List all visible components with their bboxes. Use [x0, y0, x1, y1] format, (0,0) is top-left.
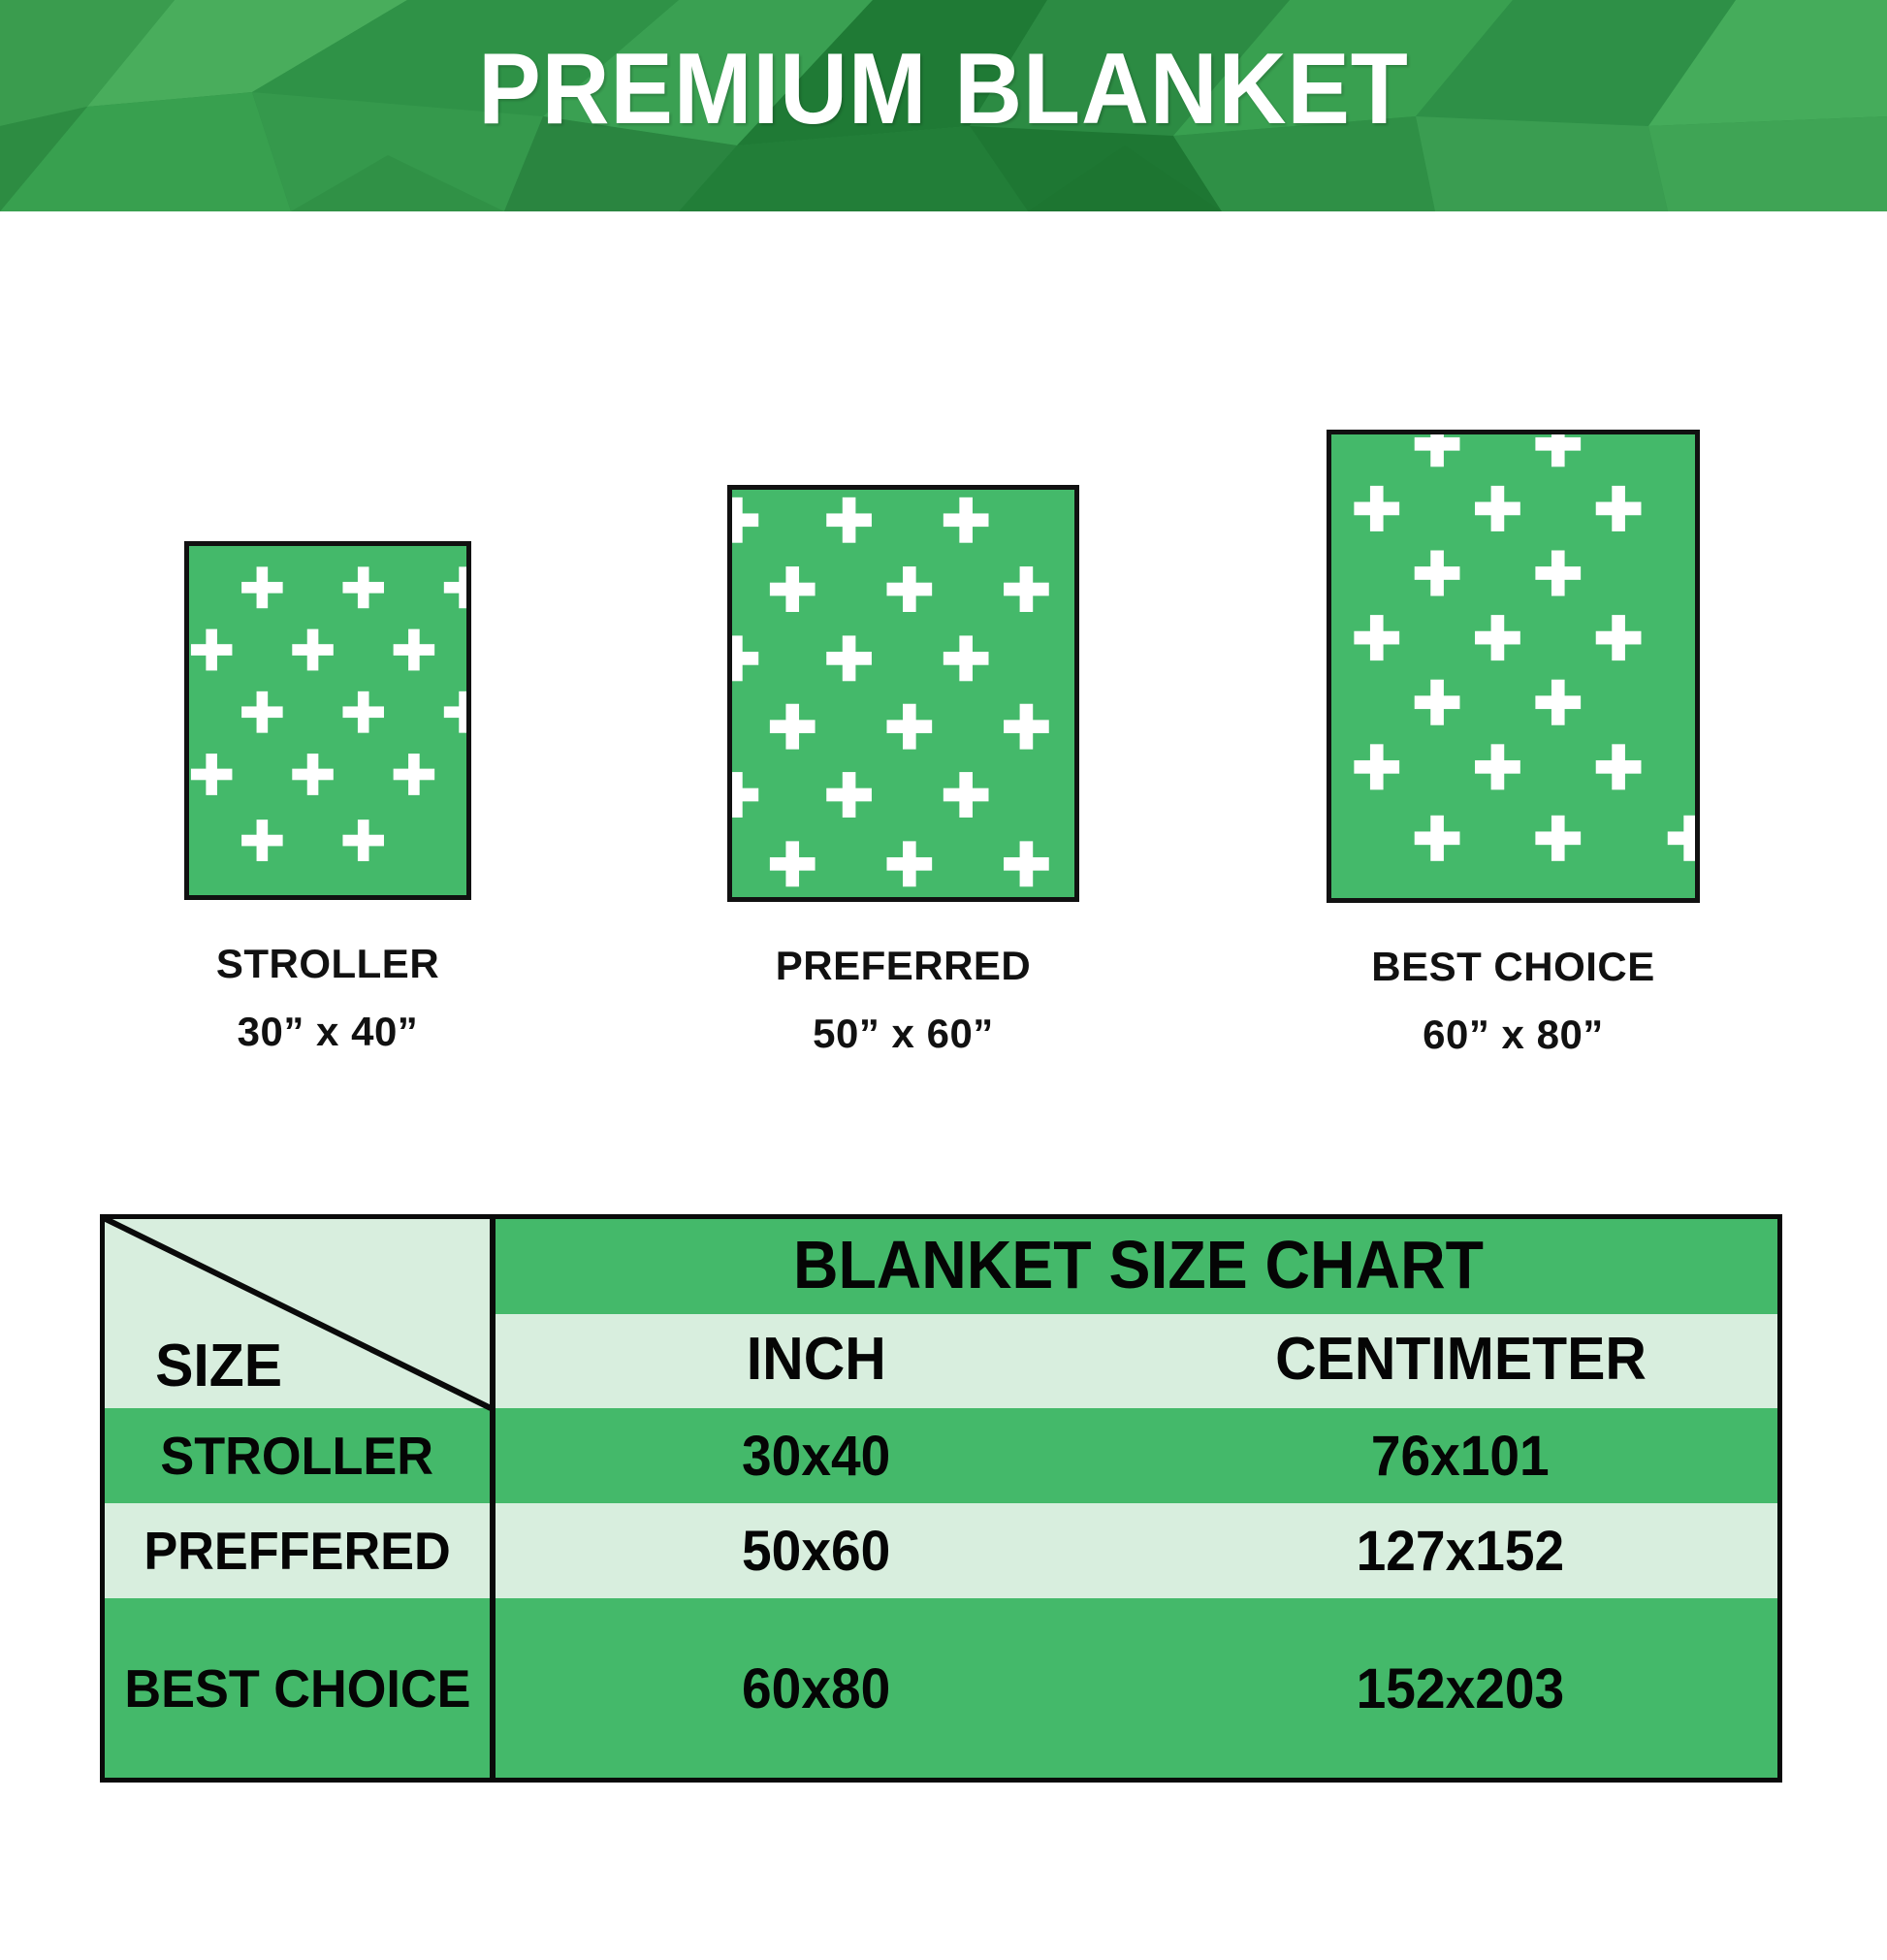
swatch-dimensions-stroller: 30” x 40” — [184, 1009, 471, 1055]
swatch-name-best-choice: BEST CHOICE — [1327, 944, 1700, 990]
blanket-swatch-stroller — [184, 541, 471, 900]
table-cell-centimeter-best-choice: 152x203 — [1138, 1598, 1782, 1783]
table-cell-inch-best-choice: 60x80 — [495, 1598, 1138, 1783]
table-value-inch-best-choice: 60x80 — [742, 1656, 890, 1725]
plus-cross-pattern-icon — [189, 546, 466, 895]
swatch-dimensions-preferred: 50” x 60” — [727, 1011, 1079, 1057]
blanket-swatch-preferred — [727, 485, 1079, 902]
table-cell-centimeter-preffered: 127x152 — [1138, 1503, 1782, 1598]
table-value-inch-stroller: 30x40 — [742, 1424, 890, 1489]
swatch-name-preferred: PREFERRED — [727, 943, 1079, 989]
table-value-centimeter-stroller: 76x101 — [1371, 1424, 1550, 1489]
table-value-inch-preffered: 50x60 — [742, 1519, 890, 1584]
table-cell-inch-stroller: 30x40 — [495, 1408, 1138, 1503]
table-header-centimeter-label: CENTIMETER — [1275, 1325, 1647, 1398]
table-cell-centimeter-stroller: 76x101 — [1138, 1408, 1782, 1503]
table-column-divider — [491, 1214, 496, 1783]
table-cell-inch-preffered: 50x60 — [495, 1503, 1138, 1598]
table-row-label-preffered: PREFFERED — [144, 1520, 450, 1582]
plus-cross-pattern-icon — [1331, 434, 1695, 898]
table-row: STROLLER — [100, 1408, 495, 1503]
table-title-cell: BLANKET SIZE CHART — [495, 1214, 1782, 1314]
table-header-inch-label: INCH — [747, 1325, 886, 1398]
table-row-label-best-choice: BEST CHOICE — [124, 1657, 470, 1723]
swatch-name-stroller: STROLLER — [184, 941, 471, 987]
table-value-centimeter-best-choice: 152x203 — [1357, 1656, 1565, 1725]
table-title: BLANKET SIZE CHART — [793, 1226, 1484, 1303]
table-corner-label: SIZE — [105, 1332, 282, 1408]
blanket-size-chart-table: SIZE BLANKET SIZE CHART INCH CENTIMETER … — [100, 1214, 1782, 1783]
page-title: PREMIUM BLANKET — [66, 39, 1821, 140]
table-row-label-stroller: STROLLER — [161, 1425, 434, 1487]
table-row: PREFFERED — [100, 1503, 495, 1598]
header-banner: PREMIUM BLANKET — [0, 0, 1887, 211]
table-header-centimeter: CENTIMETER — [1138, 1314, 1782, 1408]
swatch-group-best-choice: BEST CHOICE 60” x 80” — [1327, 430, 1700, 1058]
table-value-centimeter-preffered: 127x152 — [1357, 1519, 1565, 1584]
table-row: BEST CHOICE — [100, 1598, 495, 1783]
blanket-swatch-best-choice — [1327, 430, 1700, 903]
plus-cross-pattern-icon — [732, 490, 1074, 897]
table-corner-size-cell: SIZE — [100, 1214, 495, 1408]
swatch-group-stroller: STROLLER 30” x 40” — [184, 541, 471, 1055]
table-header-inch: INCH — [495, 1314, 1138, 1408]
blanket-swatch-area: STROLLER 30” x 40” — [0, 211, 1887, 1201]
swatch-group-preferred: PREFERRED 50” x 60” — [727, 485, 1079, 1057]
swatch-dimensions-best-choice: 60” x 80” — [1327, 1012, 1700, 1058]
